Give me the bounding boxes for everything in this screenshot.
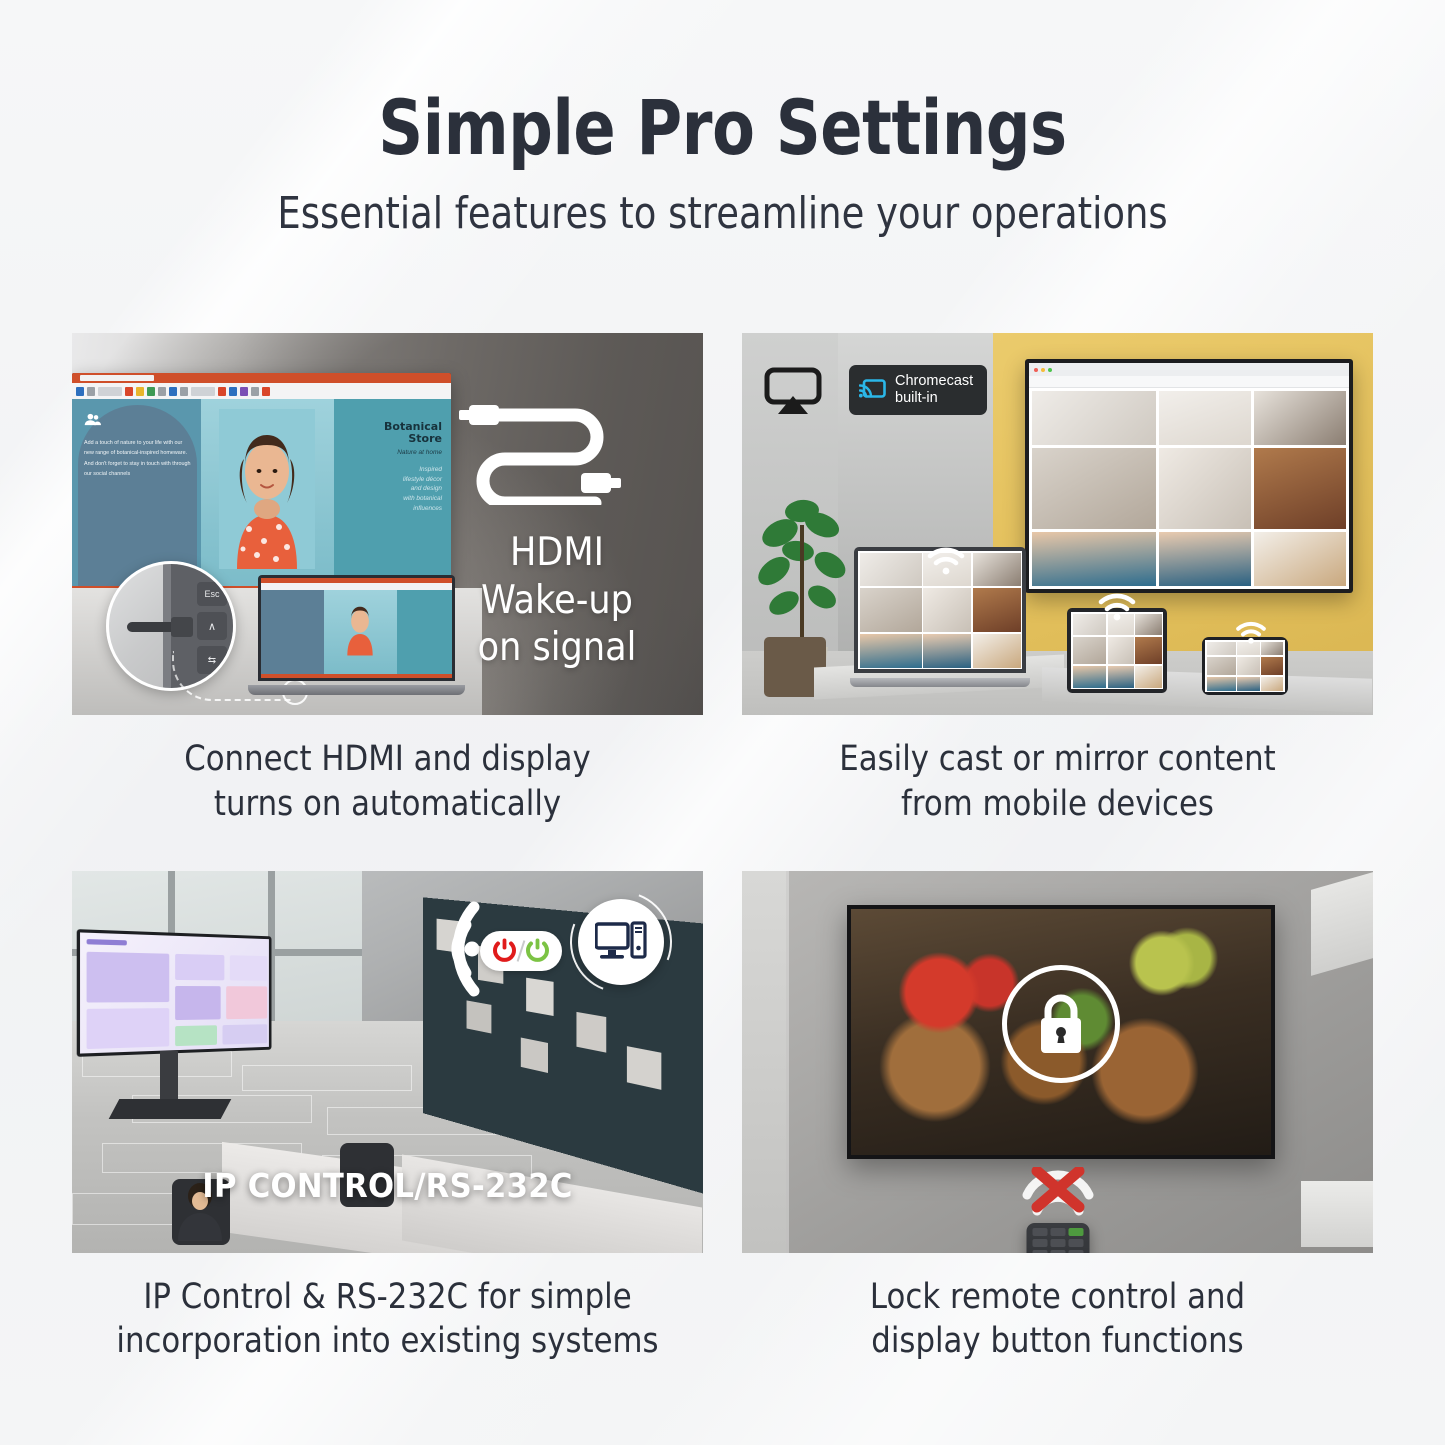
minimize-dot-icon: [1041, 368, 1045, 372]
esc-key: Esc: [197, 582, 227, 606]
ip-control-overlay-label: IP CONTROL/RS-232C: [94, 1166, 681, 1205]
browser-window: [1029, 363, 1349, 589]
wifi-icon: [1235, 620, 1267, 644]
slide-photo: [201, 399, 334, 586]
toolbar-icon: [251, 387, 259, 396]
toolbar-icon: [229, 387, 237, 396]
power-on-icon: [491, 937, 518, 964]
lock-icon: [1035, 993, 1087, 1055]
toolbar-icon: [240, 387, 248, 396]
toolbar-icon: [180, 387, 188, 396]
gallery-tile: [1032, 532, 1156, 586]
toolbar-icon: [218, 387, 226, 396]
toolbar-icon: [136, 387, 144, 396]
smartphone-device: [1202, 637, 1288, 695]
gallery-tile: [1032, 391, 1156, 445]
laptop-slide-content: [261, 590, 452, 674]
browser-addressbar: [1029, 376, 1349, 388]
toolbar-icon: [125, 387, 133, 396]
presentation-toolbar: [72, 383, 451, 399]
gallery-tile: [1254, 448, 1346, 529]
x-mark-icon: [1015, 1167, 1101, 1231]
toolbar-icon: [76, 387, 84, 396]
slide-left-column: Add a touch of nature to your life with …: [72, 399, 201, 586]
toolbar-icon: [191, 387, 215, 396]
presentation-titlebar: [72, 373, 451, 383]
wall-display: Add a touch of nature to your life with …: [72, 373, 451, 595]
browser-titlebar: [1029, 363, 1349, 376]
page-subtitle: Essential features to streamline your op…: [116, 190, 1330, 238]
toolbar-icon: [262, 387, 270, 396]
wifi-signal-icon: [402, 899, 480, 999]
cast-mirror-image: Chromecastbuilt-in: [742, 333, 1373, 715]
hdmi-caption: Connect HDMI and display turns on automa…: [110, 715, 665, 827]
hdmi-connector-plug: [171, 617, 193, 637]
laptop-device: [248, 575, 465, 695]
gallery-tile: [1159, 391, 1251, 445]
display-stand-post: [160, 1051, 178, 1103]
tablet-gallery: [1071, 612, 1163, 689]
slide-right-column: Botanical Store Nature at home Inspired …: [334, 399, 451, 586]
feature-row-2: IP CONTROL/RS-232C IP Control & RS-232C …: [72, 871, 1373, 1365]
presentation-slide: Add a touch of nature to your life with …: [72, 399, 451, 586]
desktop-computer-icon: [595, 921, 647, 963]
page-title: Simple Pro Settings: [130, 88, 1315, 168]
model-photo: [219, 409, 315, 569]
wifi-icon: [926, 545, 966, 575]
product-gallery: [1029, 388, 1349, 589]
laptop-toolbar: [261, 583, 452, 590]
wall-seam: [786, 871, 789, 1253]
ip-control-image: IP CONTROL/RS-232C: [72, 871, 703, 1253]
remote-row: [1032, 1239, 1083, 1247]
remote-control-icon: [1026, 1223, 1089, 1253]
display-stand-base: [109, 1099, 232, 1119]
chromecast-line2: built-in: [895, 390, 938, 406]
toolbar-icon: [169, 387, 177, 396]
page-root: Simple Pro Settings Essential features t…: [0, 0, 1445, 1445]
slide-body-text: Add a touch of nature to your life with …: [84, 438, 192, 480]
remote-row: [1032, 1228, 1083, 1236]
wall-display: [847, 905, 1275, 1159]
people-icon: [84, 413, 101, 426]
chromecast-badge-text: Chromecastbuilt-in: [895, 373, 973, 407]
toolbar-icon: [158, 387, 166, 396]
slide-tagline: Nature at home: [338, 449, 442, 456]
power-off-icon: [524, 937, 551, 964]
phone-gallery: [1205, 640, 1285, 692]
page-header: Simple Pro Settings Essential features t…: [0, 0, 1445, 238]
feature-card-hdmi-wake-up: Add a touch of nature to your life with …: [72, 333, 703, 827]
dashboard-screen: [80, 932, 269, 1053]
gallery-tile: [1159, 532, 1251, 586]
remote-lock-image: [742, 871, 1373, 1253]
feature-card-ip-control: IP CONTROL/RS-232C IP Control & RS-232C …: [72, 871, 703, 1365]
airplay-icon: [764, 367, 822, 415]
slide-brand-line2: Store: [338, 433, 442, 445]
maximize-dot-icon: [1048, 368, 1052, 372]
remote-lock-caption: Lock remote control and display button f…: [780, 1253, 1335, 1365]
wall-shelf-lower: [1301, 1181, 1373, 1247]
hdmi-wake-up-image: Add a touch of nature to your life with …: [72, 333, 703, 715]
lock-badge: [1002, 965, 1120, 1083]
toolbar-icon: [87, 387, 95, 396]
laptop-base: [850, 678, 1030, 687]
feature-grid: Add a touch of nature to your life with …: [72, 333, 1373, 1364]
laptop-screen: [258, 575, 455, 681]
laptop-base: [248, 685, 465, 695]
cast-caption: Easily cast or mirror content from mobil…: [780, 715, 1335, 827]
toolbar-icon: [98, 387, 122, 396]
chromecast-cast-icon: [859, 379, 886, 402]
hdmi-cable-icon: [455, 395, 625, 505]
laptop-slide: [261, 578, 452, 678]
laptop-model-photo: [341, 596, 379, 658]
feature-card-remote-lock: Lock remote control and display button f…: [742, 871, 1373, 1365]
gallery-tile: [1254, 532, 1346, 586]
ip-control-caption: IP Control & RS-232C for simple incorpor…: [110, 1253, 665, 1365]
power-state-indicator: [480, 931, 562, 971]
arrow-up-key: ∧: [197, 612, 227, 640]
laptop-footer-bar: [261, 674, 452, 678]
slide-description: Inspired lifestyle décor and design with…: [338, 465, 442, 515]
gallery-tile: [1159, 448, 1251, 529]
pc-icon-badge: [578, 899, 664, 985]
wall-display: [1025, 359, 1353, 593]
close-dot-icon: [1034, 368, 1038, 372]
chromecast-line1: Chromecast: [895, 373, 973, 389]
hdmi-overlay-text: HDMI Wake-up on signal: [449, 529, 665, 672]
chromecast-badge: Chromecastbuilt-in: [849, 365, 987, 415]
gallery-tile: [1032, 448, 1156, 529]
toolbar-icon: [147, 387, 155, 396]
display-on-stand: [77, 929, 272, 1057]
wifi-icon: [1097, 591, 1137, 621]
gallery-tile: [1254, 391, 1346, 445]
wall-shelf-upper: [1311, 872, 1373, 976]
feature-card-cast-mirror: Chromecastbuilt-in: [742, 333, 1373, 827]
wall-panel-left: [742, 871, 786, 1253]
feature-row-1: Add a touch of nature to your life with …: [72, 333, 1373, 827]
